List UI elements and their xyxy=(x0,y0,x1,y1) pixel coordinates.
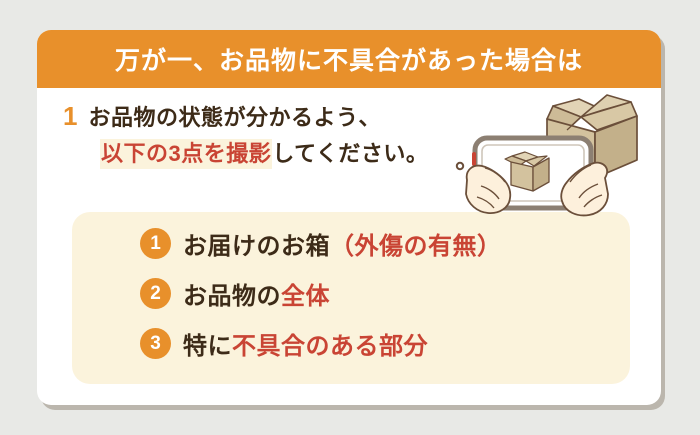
notice-card: 万が一、お品物に不具合があった場合は 1 お品物の状態が分かるよう、 以下の3点… xyxy=(37,30,661,405)
list-item: 1 お届けのお箱（外傷の有無） xyxy=(140,218,630,268)
photo-checklist-panel: 1 お届けのお箱（外傷の有無） 2 お品物の全体 3 特に不具合のある部分 xyxy=(72,212,630,384)
step-1-line-1: 1 お品物の状態が分かるよう、 xyxy=(63,100,533,132)
list-item: 2 お品物の全体 xyxy=(140,268,630,318)
list-item-2-red-text: 全体 xyxy=(281,276,330,311)
step-1-block: 1 お品物の状態が分かるよう、 以下の3点を撮影してください。 xyxy=(63,100,533,169)
step-1-highlight-text: 以下の3点を撮影 xyxy=(100,139,272,169)
list-item-3-dark-text: 特に xyxy=(183,326,232,361)
step-1-line-2: 以下の3点を撮影してください。 xyxy=(100,139,533,169)
list-item-1-red-text: （外傷の有無） xyxy=(330,226,502,261)
list-item: 3 特に不具合のある部分 xyxy=(140,318,630,368)
left-hand-icon xyxy=(466,166,510,213)
list-item-1-dark-text: お届けのお箱 xyxy=(183,226,330,261)
list-item-2-dark-text: お品物の xyxy=(183,276,281,311)
step-number: 1 xyxy=(63,103,77,129)
list-item-3-red-text: 不具合のある部分 xyxy=(232,326,428,361)
list-badge-3: 3 xyxy=(140,328,171,359)
list-badge-2: 2 xyxy=(140,278,171,309)
page-title: 万が一、お品物に不具合があった場合は xyxy=(115,41,583,77)
step-1-tail-text: してください。 xyxy=(272,141,428,166)
right-hand-icon xyxy=(561,163,608,216)
step-1-text: お品物の状態が分かるよう、 xyxy=(88,100,381,132)
list-badge-1: 1 xyxy=(140,228,171,259)
card-header: 万が一、お品物に不具合があった場合は xyxy=(37,30,661,88)
cardboard-box-icon xyxy=(547,95,637,178)
